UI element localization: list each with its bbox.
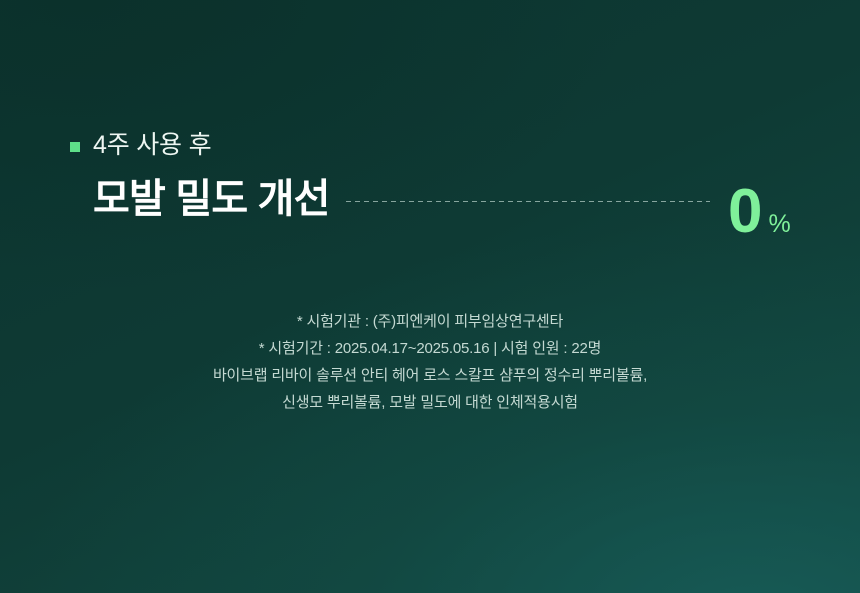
title-row: 모발 밀도 개선	[70, 177, 710, 221]
headline-block: 4주 사용 후 모발 밀도 개선	[70, 128, 710, 221]
footnote-line: * 시험기간 : 2025.04.17~2025.05.16 | 시험 인원 :…	[0, 335, 860, 362]
footnotes-block: * 시험기관 : (주)피엔케이 피부임상연구센타 * 시험기간 : 2025.…	[0, 308, 860, 416]
result-slide: 4주 사용 후 모발 밀도 개선 0 % * 시험기관 : (주)피엔케이 피부…	[0, 0, 860, 593]
dashed-divider	[346, 201, 710, 202]
metric-unit: %	[768, 212, 790, 237]
eyebrow-row: 4주 사용 후	[70, 128, 710, 162]
footnote-line: * 시험기관 : (주)피엔케이 피부임상연구센타	[0, 308, 860, 335]
footnote-line: 신생모 뿌리볼륨, 모발 밀도에 대한 인체적용시험	[0, 389, 860, 416]
page-title: 모발 밀도 개선	[93, 177, 330, 221]
footnote-line: 바이브랩 리바이 솔루션 안티 헤어 로스 스칼프 샴푸의 정수리 뿌리볼륨,	[0, 362, 860, 389]
metric-value-block: 0 %	[728, 181, 791, 243]
square-bullet-icon	[70, 142, 80, 152]
metric-value: 0	[728, 181, 761, 243]
eyebrow-label: 4주 사용 후	[93, 133, 211, 158]
